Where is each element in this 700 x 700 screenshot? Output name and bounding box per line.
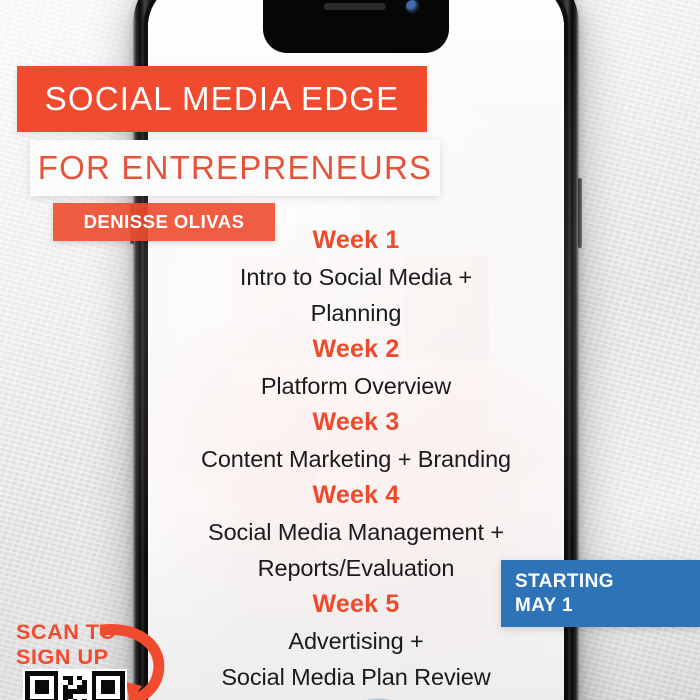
scan-line-2: SIGN UP (16, 645, 117, 670)
phone-notch (263, 0, 449, 53)
headline-band-primary: SOCIAL MEDIA EDGE (17, 66, 427, 132)
curriculum-item: Week 5 Advertising + Social Media Plan R… (150, 586, 562, 695)
curriculum-item: Week 2 Platform Overview (150, 331, 562, 404)
week-label: Week 4 (150, 477, 562, 514)
curriculum-item: Week 4 Social Media Management + Reports… (150, 477, 562, 586)
curriculum-list: Week 1 Intro to Social Media + Planning … (150, 222, 562, 695)
page-title: SOCIAL MEDIA EDGE (45, 80, 400, 118)
earpiece-speaker-icon (324, 3, 386, 10)
week-label: Week 2 (150, 331, 562, 368)
week-topic: Content Marketing + Branding (150, 441, 562, 477)
scan-line-1: SCAN TO (16, 620, 117, 645)
week-topic: Intro to Social Media + Planning (150, 259, 562, 331)
week-topic: Platform Overview (150, 368, 562, 404)
front-camera-icon (406, 0, 419, 13)
presenter-badge: DENISSE OLIVAS (53, 203, 275, 241)
presenter-name: DENISSE OLIVAS (84, 211, 245, 233)
week-label: Week 3 (150, 404, 562, 441)
week-label: Week 5 (150, 586, 562, 623)
headline-band-secondary: FOR ENTREPRENEURS (30, 140, 440, 196)
scan-callout: SCAN TO SIGN UP (16, 620, 117, 670)
curriculum-item: Week 3 Content Marketing + Branding (150, 404, 562, 477)
qr-code-icon[interactable] (23, 669, 127, 700)
week-topic: Social Media Management + Reports/Evalua… (150, 514, 562, 586)
week-topic: Advertising + Social Media Plan Review (150, 623, 562, 695)
brand-logo-watermark (331, 686, 521, 700)
page-subtitle: FOR ENTREPRENEURS (38, 149, 432, 187)
flyer-poster: Week 1 Intro to Social Media + Planning … (0, 0, 700, 700)
